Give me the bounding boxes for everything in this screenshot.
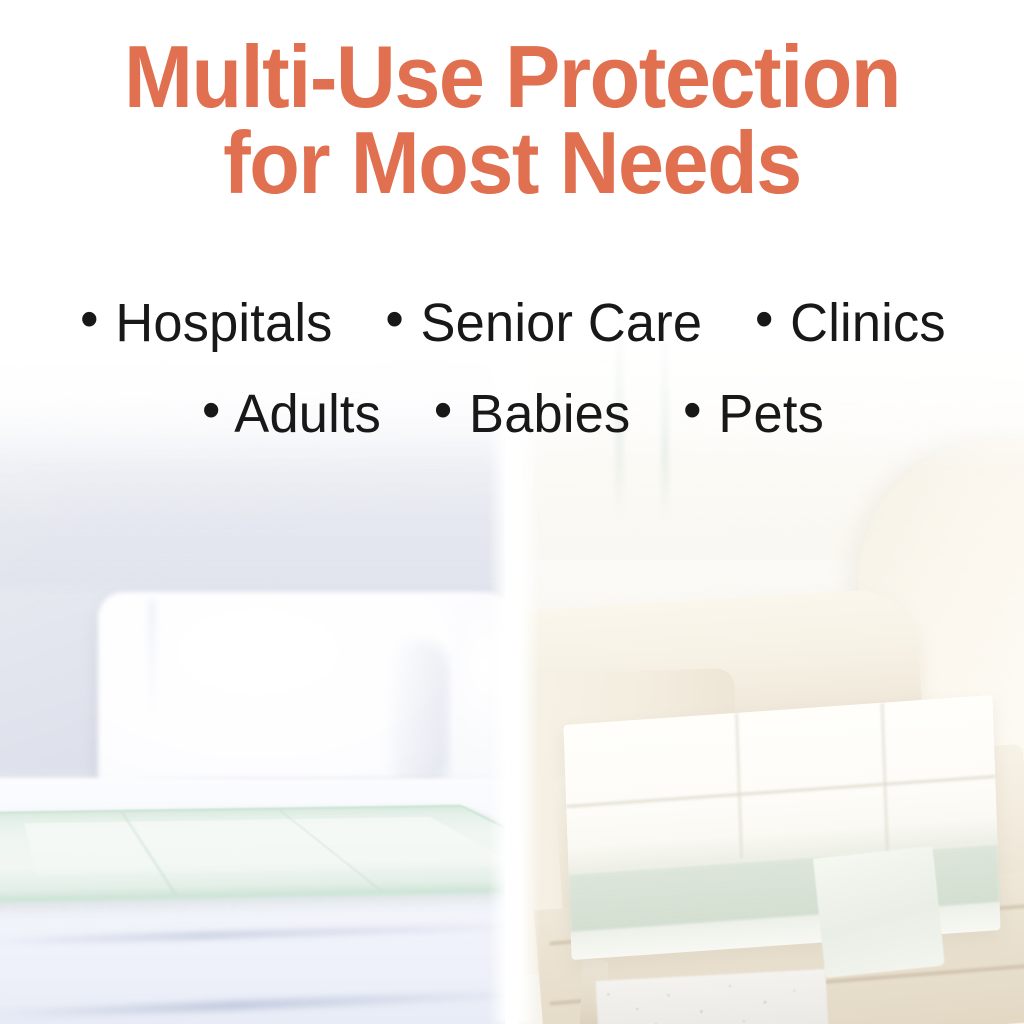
- headline: Multi-Use Protection for Most Needs: [31, 34, 994, 206]
- use-case-row-1: • Hospitals • Senior Care • Clinics: [15, 278, 1008, 369]
- bullet-dot-icon: •: [755, 274, 774, 365]
- bullet-dot-icon: •: [683, 365, 702, 456]
- list-item-adults: • Adults: [200, 384, 381, 444]
- headline-line-2: for Most Needs: [31, 120, 994, 206]
- list-item-label: Pets: [718, 384, 824, 444]
- product-feature-banner: Multi-Use Protection for Most Needs • Ho…: [0, 0, 1024, 1024]
- headline-line-1: Multi-Use Protection: [31, 34, 994, 120]
- list-item-hospitals: • Hospitals: [78, 293, 332, 353]
- list-item-label: Hospitals: [115, 293, 332, 353]
- bullet-dot-icon: •: [202, 365, 221, 456]
- list-item-label: Clinics: [790, 293, 946, 353]
- list-item-pets: • Pets: [681, 384, 824, 444]
- list-item-label: Adults: [234, 384, 381, 444]
- use-case-list: • Hospitals • Senior Care • Clinics • Ad…: [15, 278, 1008, 459]
- bullet-dot-icon: •: [80, 274, 99, 365]
- list-item-babies: • Babies: [432, 384, 630, 444]
- list-item-clinics: • Clinics: [753, 293, 946, 353]
- list-item-label: Babies: [469, 384, 630, 444]
- list-item-label: Senior Care: [421, 293, 703, 353]
- bullet-dot-icon: •: [434, 365, 453, 456]
- list-item-senior-care: • Senior Care: [383, 293, 702, 353]
- bullet-dot-icon: •: [385, 274, 404, 365]
- use-case-row-2: • Adults • Babies • Pets: [15, 369, 1008, 460]
- text-overlay: Multi-Use Protection for Most Needs • Ho…: [0, 0, 1024, 1024]
